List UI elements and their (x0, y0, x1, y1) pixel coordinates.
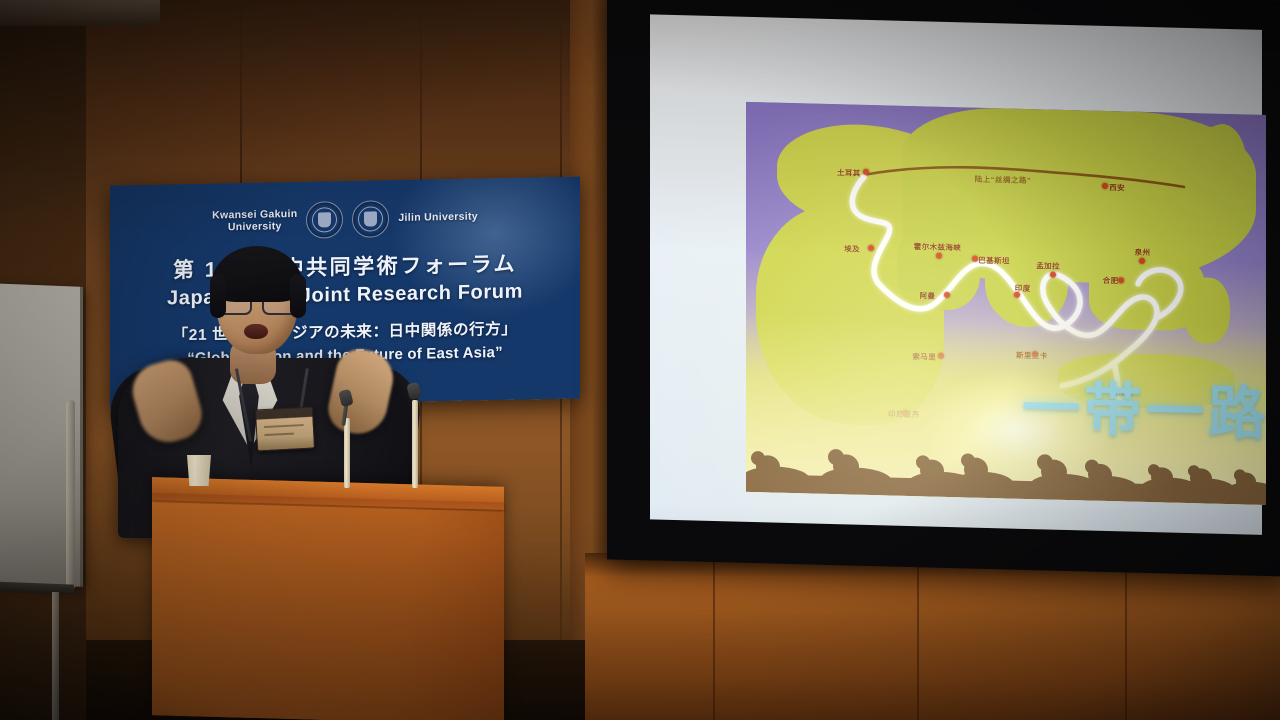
lower-seam-3 (1125, 553, 1127, 720)
lower-seam-1 (713, 553, 715, 720)
presenter-mouth (244, 324, 268, 339)
lower-seam-2 (917, 553, 919, 720)
city-label: 西安 (1109, 182, 1125, 193)
jilin-university-seal-icon (352, 200, 389, 238)
lectern (152, 477, 504, 720)
name-badge (255, 407, 315, 452)
city-label: 巴基斯坦 (978, 255, 1010, 267)
city-label: 土耳其 (837, 168, 861, 180)
city-label: 孟加拉 (1036, 260, 1060, 272)
city-label: 泉州 (1135, 247, 1151, 258)
city-label: 印度 (1015, 283, 1031, 294)
city-marker (944, 292, 950, 298)
projection-screen-frame: 土耳其埃及霍尔木兹海峡巴基斯坦阿曼印度孟加拉西安泉州合肥索马里斯里兰卡雅加达印尼… (607, 0, 1280, 577)
city-label: 阿曼 (920, 291, 936, 302)
presenter-hair-right (290, 274, 306, 318)
slide-main-title: 一带一路 (1022, 361, 1266, 451)
jilin-university-name: Jilin University (398, 210, 478, 224)
whiteboard-hinge (66, 400, 75, 590)
projection-screen-surface: 土耳其埃及霍尔木兹海峡巴基斯坦阿曼印度孟加拉西安泉州合肥索马里斯里兰卡雅加达印尼… (650, 14, 1262, 534)
city-label: 合肥 (1103, 275, 1119, 286)
city-label: 霍尔木兹海峡 (914, 241, 961, 253)
microphone-stand-left[interactable] (344, 418, 350, 488)
city-label: 埃及 (844, 244, 860, 255)
city-marker (1050, 271, 1056, 277)
microphone-stand-right[interactable] (412, 400, 418, 488)
kwansei-gakuin-seal-icon (306, 201, 343, 239)
route-label: 陆上“丝绸之路” (975, 174, 1032, 186)
photo-scene: Kwansei Gakuin University Jilin Universi… (0, 0, 1280, 720)
kwansei-gakuin-university-name: Kwansei Gakuin University (212, 208, 297, 234)
city-marker (936, 253, 942, 259)
presenter-hair-left (210, 274, 226, 318)
presentation-slide: 土耳其埃及霍尔木兹海峡巴基斯坦阿曼印度孟加拉西安泉州合肥索马里斯里兰卡雅加达印尼… (746, 102, 1266, 505)
ceiling-corner (0, 0, 160, 26)
lower-wall-panel (585, 553, 1280, 720)
badge-text-line-2 (264, 433, 294, 437)
city-marker (1139, 258, 1145, 264)
badge-text-line-1 (264, 424, 304, 428)
lectern-front-panel (152, 502, 504, 720)
whiteboard-leg (52, 592, 59, 720)
